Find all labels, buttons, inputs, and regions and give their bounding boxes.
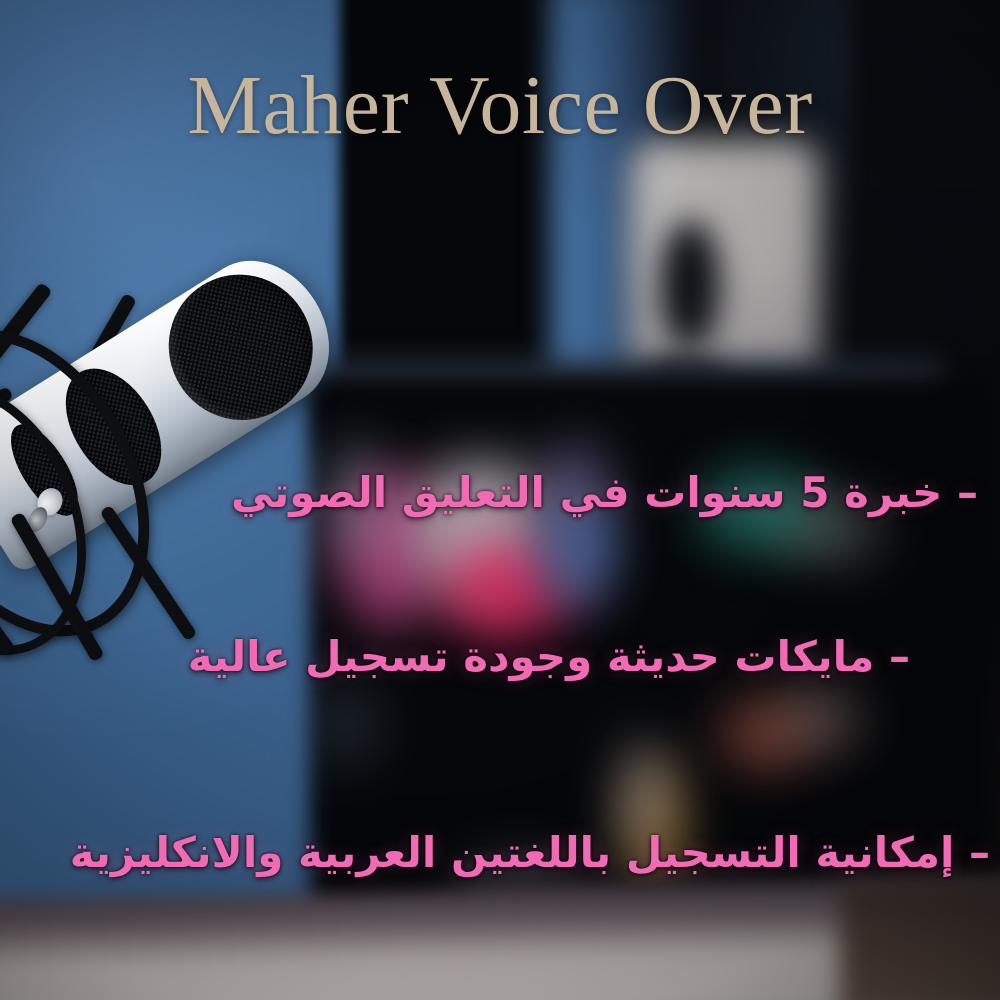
bullet-experience: – خبرة 5 سنوات في التعليق الصوتي [231,468,978,517]
text-overlay: Maher Voice Over – خبرة 5 سنوات في التعل… [0,0,1000,1000]
poster-title: Maher Voice Over [0,62,1000,150]
bullet-equipment: – مايكات حديثة وجودة تسجيل عالية [188,632,910,681]
bullet-languages: – إمكانية التسجيل باللغتين العربية والان… [70,828,990,877]
voice-over-poster: Maher Voice Over – خبرة 5 سنوات في التعل… [0,0,1000,1000]
